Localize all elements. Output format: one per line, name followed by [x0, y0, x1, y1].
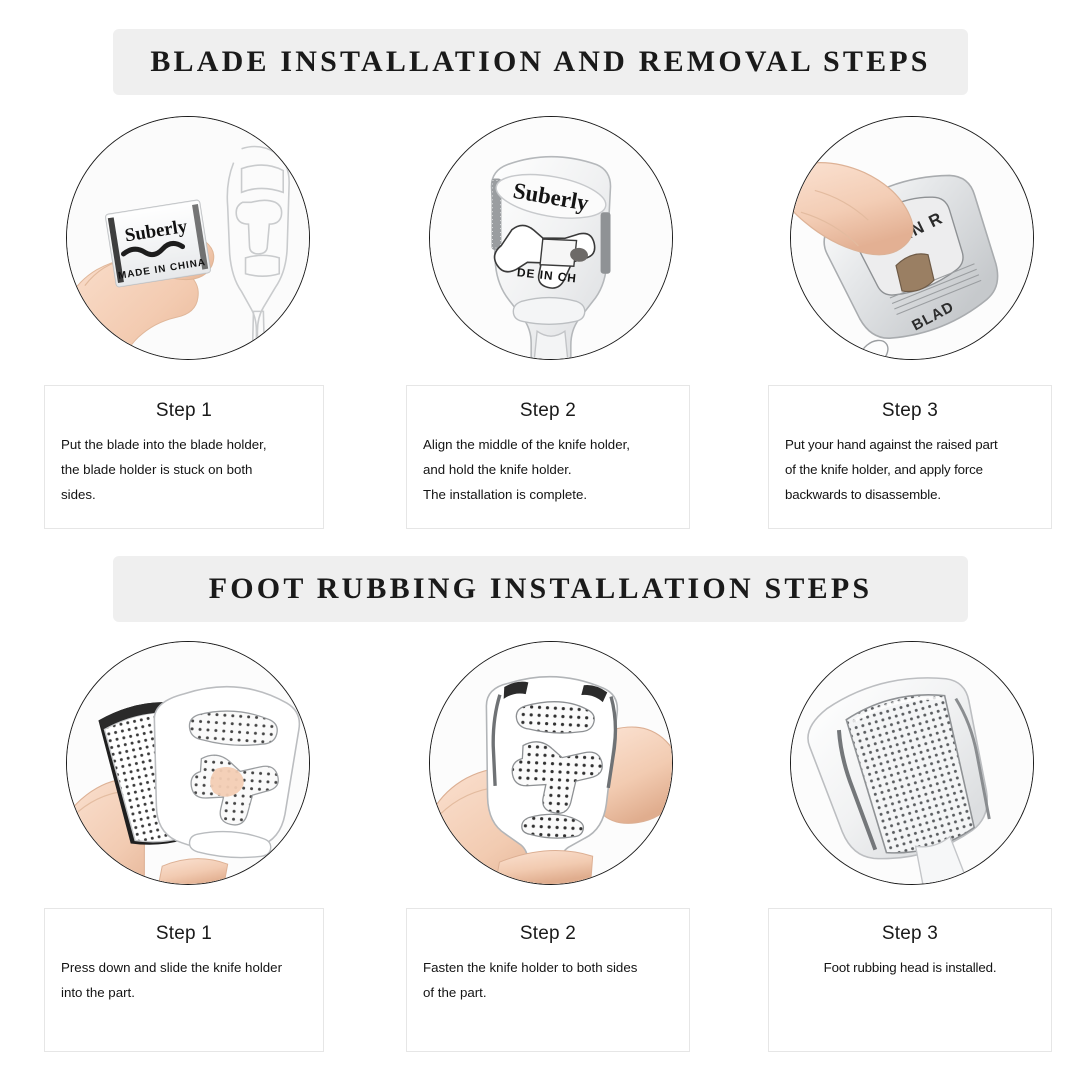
illustration-blade-in-holder: Suberly DE IN CH [430, 117, 672, 359]
step-line: sides. [61, 482, 307, 507]
photo-blade-step-3: CORN R BLAD [790, 116, 1034, 360]
step-line: backwards to disassemble. [785, 482, 1035, 507]
step-title: Step 2 [423, 400, 673, 422]
step-title: Step 3 [785, 400, 1035, 422]
illustration-hand-holding-blade: Suberly MADE IN CHINA [67, 117, 309, 359]
caption-blade-step-1: Step 1 Put the blade into the blade hold… [44, 385, 324, 529]
step-line: Press down and slide the knife holder [61, 955, 307, 980]
photo-blade-step-2: Suberly DE IN CH [429, 116, 673, 360]
step-title: Step 2 [423, 923, 673, 945]
step-line: Align the middle of the knife holder, [423, 432, 673, 457]
caption-blade-step-3: Step 3 Put your hand against the raised … [768, 385, 1052, 529]
illustration-thumb-removing-blade: CORN R BLAD [791, 117, 1033, 359]
infographic-page: BLADE INSTALLATION AND REMOVAL STEPS [0, 0, 1080, 1080]
step-line: Put the blade into the blade holder, [61, 432, 307, 457]
step-title: Step 1 [61, 923, 307, 945]
step-body: Foot rubbing head is installed. [785, 955, 1035, 980]
caption-foot-step-3: Step 3 Foot rubbing head is installed. [768, 908, 1052, 1052]
step-line: the blade holder is stuck on both [61, 457, 307, 482]
section-title-foot-rubbing: FOOT RUBBING INSTALLATION STEPS [113, 572, 968, 606]
step-line: Foot rubbing head is installed. [785, 955, 1035, 980]
step-body: Put the blade into the blade holder, the… [61, 432, 307, 507]
step-line: of the knife holder, and apply force [785, 457, 1035, 482]
photo-foot-step-2 [429, 641, 673, 885]
illustration-assembled-rasp-head [430, 642, 672, 884]
photo-foot-step-1 [66, 641, 310, 885]
step-body: Press down and slide the knife holder in… [61, 955, 307, 1005]
step-title: Step 1 [61, 400, 307, 422]
caption-blade-step-2: Step 2 Align the middle of the knife hol… [406, 385, 690, 529]
section-banner-foot-rubbing: FOOT RUBBING INSTALLATION STEPS [113, 556, 968, 622]
step-line: into the part. [61, 980, 307, 1005]
step-line: and hold the knife holder. [423, 457, 673, 482]
step-line: Fasten the knife holder to both sides [423, 955, 673, 980]
step-line: The installation is complete. [423, 482, 673, 507]
section-title-blade: BLADE INSTALLATION AND REMOVAL STEPS [113, 45, 968, 79]
caption-foot-step-1: Step 1 Press down and slide the knife ho… [44, 908, 324, 1052]
section-banner-blade: BLADE INSTALLATION AND REMOVAL STEPS [113, 29, 968, 95]
photo-foot-step-3 [790, 641, 1034, 885]
step-body: Align the middle of the knife holder, an… [423, 432, 673, 507]
step-line: of the part. [423, 980, 673, 1005]
illustration-installed-rasp-head [791, 642, 1033, 884]
step-title: Step 3 [785, 923, 1035, 945]
illustration-sliding-rasp-plate [67, 642, 309, 884]
step-body: Put your hand against the raised part of… [785, 432, 1035, 507]
photo-blade-step-1: Suberly MADE IN CHINA [66, 116, 310, 360]
step-body: Fasten the knife holder to both sides of… [423, 955, 673, 1005]
step-line: Put your hand against the raised part [785, 432, 1035, 457]
caption-foot-step-2: Step 2 Fasten the knife holder to both s… [406, 908, 690, 1052]
